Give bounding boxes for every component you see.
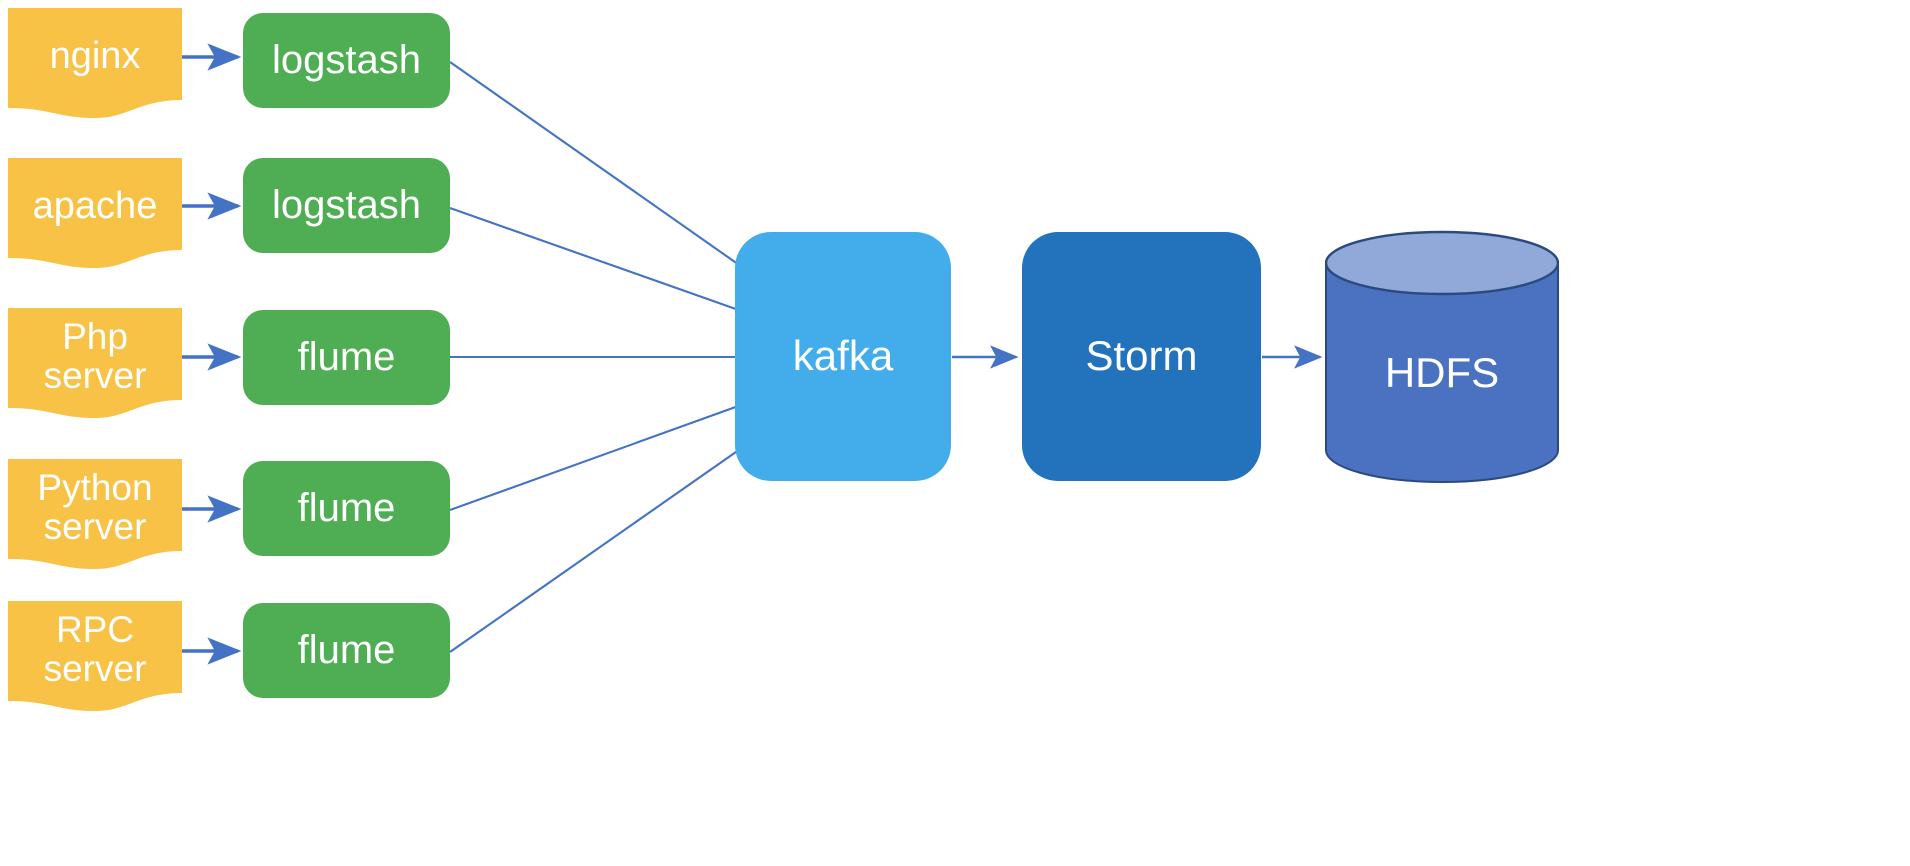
source-node-nginx[interactable]: nginx xyxy=(8,8,182,104)
storage-label: HDFS xyxy=(1325,351,1559,396)
source-node-rpc-server[interactable]: RPC server xyxy=(8,601,182,697)
source-label-line1: Python xyxy=(8,468,182,507)
source-label: apache xyxy=(8,186,182,226)
collector-node-logstash-1[interactable]: logstash xyxy=(243,13,450,108)
source-label: RPC server xyxy=(8,610,182,688)
source-label: Python server xyxy=(8,468,182,546)
source-node-apache[interactable]: apache xyxy=(8,158,182,254)
edge-source-to-collector xyxy=(182,57,238,651)
source-label: Php server xyxy=(8,317,182,395)
source-label-line2: server xyxy=(8,356,182,395)
broker-node-kafka[interactable]: kafka xyxy=(735,232,951,481)
source-label-line2: server xyxy=(8,649,182,688)
source-node-python-server[interactable]: Python server xyxy=(8,459,182,555)
source-label: nginx xyxy=(8,36,182,76)
processor-node-storm[interactable]: Storm xyxy=(1022,232,1261,481)
architecture-diagram-canvas: nginx apache Php server Python server RP… xyxy=(0,0,1910,866)
source-label-line1: RPC xyxy=(8,610,182,649)
collector-node-flume-3[interactable]: flume xyxy=(243,603,450,698)
connector-layer xyxy=(0,0,1910,866)
collector-node-flume-1[interactable]: flume xyxy=(243,310,450,405)
collector-node-logstash-2[interactable]: logstash xyxy=(243,158,450,253)
collector-node-flume-2[interactable]: flume xyxy=(243,461,450,556)
source-label-line1: Php xyxy=(8,317,182,356)
source-label-line2: server xyxy=(8,507,182,546)
source-node-php-server[interactable]: Php server xyxy=(8,308,182,404)
storage-node-hdfs[interactable]: HDFS xyxy=(1325,230,1559,483)
